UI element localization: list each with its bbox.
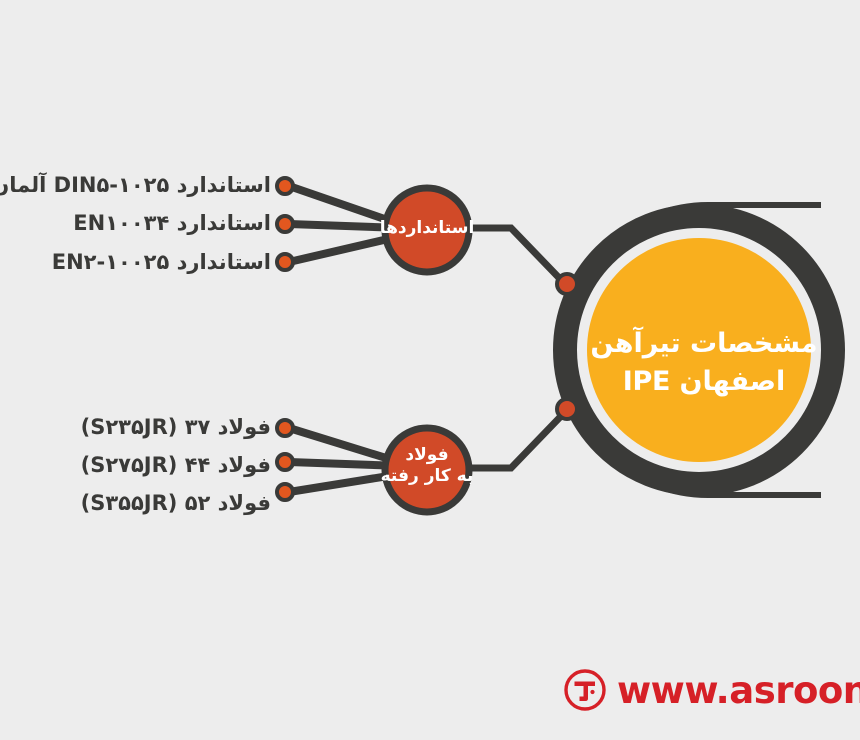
steel-item-label-2: فولاد ۵۲ (S۳۵۵JR) [82, 488, 272, 518]
junction-dot-steel [558, 399, 578, 419]
steel-item-label-1: فولاد ۴۴ (S۲۷۵JR) [82, 450, 272, 480]
steel-item-label-0: فولاد ۳۷ (S۲۳۵JR) [82, 412, 272, 442]
center-title-line2: اصفهان IPE [585, 363, 825, 401]
standards-item-label-2: استاندارد EN۲-۱۰۰۲۵ [53, 247, 272, 277]
brand-watermark[interactable]: www.asroon.ir [563, 660, 860, 720]
hub-steel-caption-line2: به کار رفته [382, 466, 475, 486]
hub-steel-caption-line1: فولاد [406, 445, 449, 465]
bullet-dot-steel-0 [278, 420, 294, 436]
brand-url: www.asroon.ir [618, 669, 860, 712]
standards-item-label-1: استاندارد EN۱۰۰۳۴ [74, 208, 272, 238]
center-title: مشخصات تیرآهن اصفهان IPE [585, 325, 825, 401]
bullet-dot-standards-2 [278, 254, 294, 270]
center-title-line1: مشخصات تیرآهن [591, 328, 818, 359]
standards-item-label-0: استاندارد DIN۵-۱۰۲۵ آلمان [0, 170, 272, 200]
bullet-dot-steel-1 [278, 454, 294, 470]
infographic-canvas: استاندارد DIN۵-۱۰۲۵ آلمان استاندارد EN۱۰… [0, 0, 860, 740]
bullet-dot-standards-0 [278, 178, 294, 194]
hub-standards-caption: استانداردها [373, 218, 483, 239]
junction-dot-standards [558, 274, 578, 294]
hub-steel-caption: فولاد به کار رفته [373, 445, 483, 487]
bullet-dot-steel-2 [278, 484, 294, 500]
asroon-logo-icon [563, 667, 609, 713]
bullet-dot-standards-1 [278, 216, 294, 232]
